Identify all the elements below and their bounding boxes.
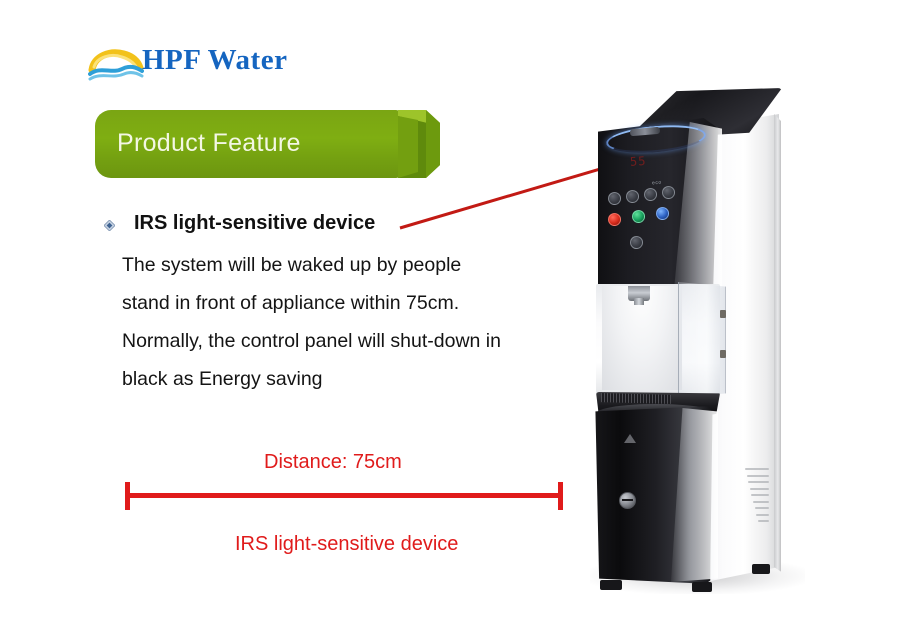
- vent-slat: [758, 520, 769, 522]
- dimension-line-icon: [125, 493, 563, 498]
- vent-slat: [750, 488, 769, 490]
- vent-slat: [753, 501, 769, 503]
- panel-button-lock[interactable]: [662, 186, 675, 199]
- banner-title: Product Feature: [117, 129, 301, 158]
- side-vent-slots: [743, 468, 769, 526]
- dispenser-foot-right: [752, 564, 770, 574]
- glass-door-hinge-top: [720, 310, 726, 318]
- vent-slat: [745, 468, 769, 470]
- banner-bevel-shape: [398, 110, 440, 178]
- eco-label: eco: [652, 180, 662, 187]
- dispenser-foot-middle: [692, 582, 712, 592]
- feature-line-4: black as Energy saving: [122, 368, 323, 391]
- dispenser-foot-left: [600, 580, 622, 590]
- panel-button-hot[interactable]: [608, 192, 621, 205]
- panel-button-dispense[interactable]: [632, 210, 645, 223]
- glass-door-hinge-bottom: [720, 350, 726, 358]
- vent-slat: [748, 481, 769, 483]
- cabinet-lock-slot: [622, 499, 633, 501]
- distance-label: Distance: 75cm: [264, 451, 402, 474]
- brand-name: HPF Water: [142, 44, 287, 77]
- warning-triangle-icon: [624, 434, 636, 443]
- feature-line-3: Normally, the control panel will shut-do…: [122, 330, 501, 353]
- sun-wave-logo-icon: [88, 48, 144, 82]
- panel-button-cold[interactable]: [644, 188, 657, 201]
- water-spout-stem: [634, 298, 644, 305]
- panel-button-power[interactable]: [608, 213, 621, 226]
- temperature-display: 55: [630, 153, 657, 169]
- vent-slat: [747, 475, 769, 477]
- feature-heading-row: IRS light-sensitive device: [104, 212, 524, 240]
- vent-slat: [751, 494, 769, 496]
- brand-logo: HPF Water: [88, 44, 308, 90]
- callout-caption: IRS light-sensitive device: [235, 533, 458, 556]
- drip-tray-grille: [601, 393, 671, 404]
- feature-line-2: stand in front of appliance within 75cm.: [122, 292, 459, 315]
- water-dispenser-illustration: 55 eco: [560, 88, 820, 608]
- feature-line-1: The system will be waked up by people: [122, 254, 461, 277]
- dispenser-side-edge: [774, 114, 781, 581]
- vent-slat: [756, 514, 769, 516]
- dimension-cap-left-icon: [125, 482, 130, 510]
- diamond-bullet-icon: [104, 220, 115, 231]
- panel-button-warm[interactable]: [626, 190, 639, 203]
- panel-button-menu[interactable]: [630, 236, 643, 249]
- section-banner: Product Feature: [95, 110, 440, 178]
- panel-button-settings[interactable]: [656, 207, 669, 220]
- feature-heading: IRS light-sensitive device: [134, 212, 375, 235]
- alcove-glass-door[interactable]: [678, 282, 726, 398]
- slide-canvas: HPF Water Product Feature IRS light-sens…: [0, 0, 907, 639]
- vent-slat: [755, 507, 769, 509]
